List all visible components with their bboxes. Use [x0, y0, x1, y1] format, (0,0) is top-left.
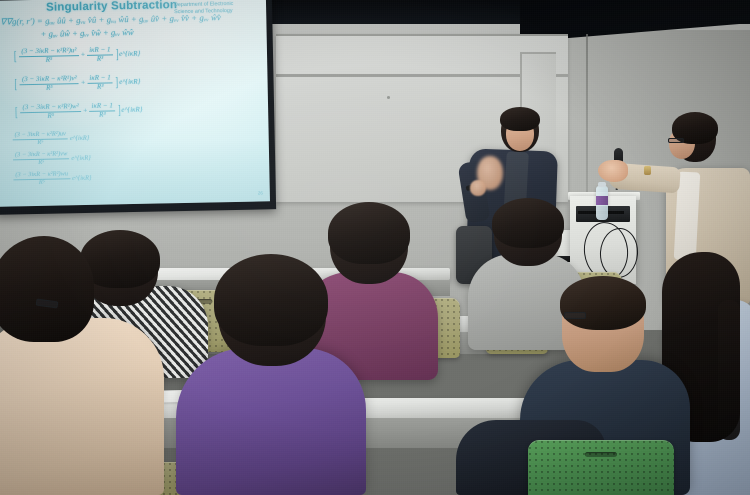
frac-g-uu: (3 − 3iκR − κ²R²)u²R⁵ [19, 47, 78, 64]
frac-g-ww: (3 − 3iκR − κ²R²)w²R⁵ [20, 103, 81, 120]
chair-handle-slot [585, 452, 617, 457]
frac-den: R⁵ [13, 138, 68, 147]
frac-g-vw: (3 − 3iκR − κ²R²)vwR⁵ [13, 151, 70, 167]
slide-equation-g-ww: [(3 − 3iκR − κ²R²)w²R⁵+iκR − 1R³]e^{iκR} [14, 102, 143, 121]
slide-equation-g-vw: (3 − 3iκR − κ²R²)vwR⁵e^{iκR} [11, 151, 91, 167]
purple-tshirt-torso [176, 348, 366, 495]
wristwatch [644, 166, 651, 175]
bracket-close-3: ] [118, 102, 121, 118]
slide-equation-g-vv: [(3 − 3iκR − κ²R²)v²R⁵+iκR − 1R³]e^{iκR} [13, 74, 140, 93]
frac-g-vv-2: iκR − 1R³ [87, 75, 113, 91]
bracket-open-2: [ [14, 76, 17, 92]
slide-equation-g-wu: (3 − 3iκR − κ²R²)wuR⁵e^{iκR} [11, 171, 91, 187]
frac-den: R³ [87, 54, 112, 63]
exp-factor-6: e^{iκR} [72, 175, 92, 182]
blue-top-hair-strand [718, 300, 740, 440]
water-bottle-label [596, 196, 608, 205]
exp-factor-1: e^{iκR} [119, 49, 140, 57]
cream-top-hair [0, 236, 94, 342]
frac-g-vv: (3 − 3iκR − κ²R²)v²R⁵ [20, 75, 79, 92]
frac-den: R⁵ [19, 55, 78, 65]
bracket-close-2: ] [116, 74, 119, 90]
lecture-room-photograph: Singularity Subtraction Department of El… [0, 0, 750, 495]
frac-den: R⁵ [20, 83, 79, 93]
navy-jacket-hair [560, 276, 646, 330]
slide-page-number: 26 [258, 190, 263, 195]
chair-green-foreground[interactable] [528, 440, 674, 495]
slide-equation-dyadic-2: + gᵤᵥ ûŵ + gᵥᵥ v̂ŵ + gᵥᵥ ŵŵ [40, 27, 133, 39]
water-bottle-cap [598, 182, 606, 187]
exp-factor-2: e^{iκR} [119, 77, 140, 85]
presenter-hair [500, 107, 540, 131]
projection-screen-frame: Singularity Subtraction Department of El… [0, 0, 276, 215]
frac-den: R³ [90, 110, 115, 119]
grey-tshirt-hair [492, 198, 564, 248]
slide-equation-g-uv: (3 − 3iκR − κ²R²)uvR⁵e^{iκR} [11, 131, 90, 147]
frac-den: R³ [87, 82, 112, 91]
frac-g-uv: (3 − 3iκR − κ²R²)uvR⁵ [13, 131, 69, 147]
frac-g-ww-2: iκR − 1R³ [89, 103, 115, 119]
navy-jacket-glasses-icon [564, 312, 586, 319]
frac-num: iκR − 1 [87, 75, 112, 83]
exp-factor-4: e^{iκR} [70, 135, 90, 142]
frac-num: (3 − 3iκR − κ²R²)w² [20, 103, 80, 112]
projection-screen: Singularity Subtraction Department of El… [0, 0, 270, 207]
frac-g-wu: (3 − 3iκR − κ²R²)wuR⁵ [13, 171, 70, 187]
frac-num: iκR − 1 [89, 103, 114, 111]
whiteboard-mark [387, 96, 390, 99]
bracket-close-1: ] [115, 46, 118, 62]
exp-factor-3: e^{iκR} [121, 105, 142, 113]
frac-num: (3 − 3iκR − κ²R²)u² [19, 47, 78, 56]
host-open-hand [598, 160, 628, 182]
frac-num: iκR − 1 [87, 47, 112, 55]
slide-equation-g-uu: [(3 − 3iκR − κ²R²)u²R⁵+iκR − 1R³]e^{iκR} [13, 46, 141, 65]
frac-g-uu-2: iκR − 1R³ [87, 47, 113, 63]
frac-den: R⁵ [13, 158, 69, 167]
plum-shirt-hair [328, 202, 410, 264]
host-glasses-icon [668, 138, 684, 143]
slide-title: Singularity Subtraction [46, 0, 177, 14]
frac-den: R⁵ [13, 178, 70, 187]
cream-top-torso [0, 318, 164, 495]
bracket-open-1: [ [14, 48, 17, 64]
purple-tshirt-hair [214, 254, 328, 346]
bracket-open-3: [ [15, 104, 18, 120]
frac-den: R⁵ [21, 111, 81, 121]
presenter-clicker-hand [470, 180, 486, 196]
frac-num: (3 − 3iκR − κ²R²)v² [20, 75, 79, 84]
exp-factor-5: e^{iκR} [71, 155, 91, 162]
slide-equation-dyadic: ∇∇g(r, r′) = gᵤᵤ ûû + gᵥᵤ v̂û + gᵥᵤ ŵû +… [0, 12, 221, 27]
